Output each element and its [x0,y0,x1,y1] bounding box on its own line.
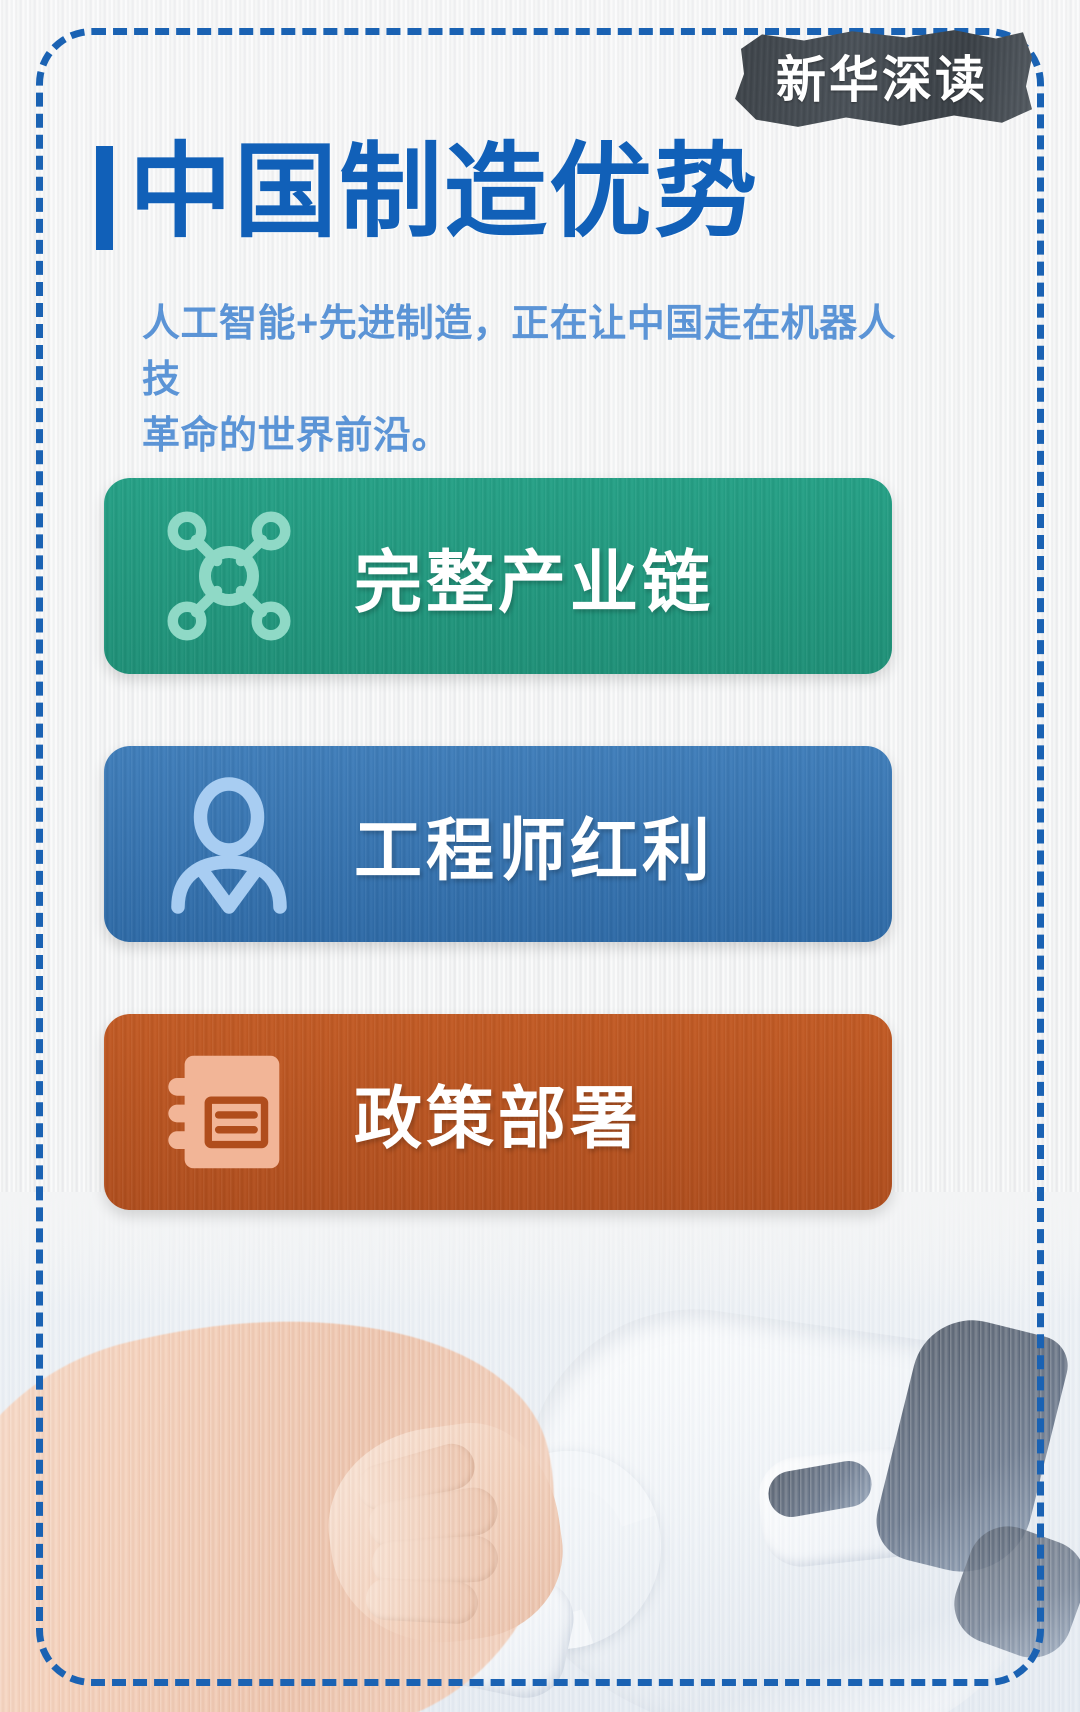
page-title-text: 中国制造优势 [129,136,759,247]
feature-card-supply-chain[interactable]: 完整产业链 [104,478,892,674]
human-finger [365,1577,479,1625]
subtitle-line-1: 人工智能+先进制造，正在让中国走在机器人技 [142,296,902,408]
infographic-poster: 新华深读 中国制造优势 人工智能+先进制造，正在让中国走在机器人技 革命的世界前… [0,0,1080,1712]
publisher-badge-label: 新华深读 [732,26,1032,130]
engineer-person-icon [104,769,354,919]
feature-card-engineer-dividend[interactable]: 工程师红利 [104,746,892,942]
feature-card-label: 工程师红利 [354,795,714,894]
page-title: 中国制造优势 [96,136,759,250]
publisher-badge: 新华深读 [732,26,1032,130]
feature-card-label: 完整产业链 [354,527,714,626]
feature-card-label: 政策部署 [354,1063,642,1162]
network-hub-icon [104,501,354,651]
vertical-bar-accent-icon [96,146,113,250]
feature-card-policy-deployment[interactable]: 政策部署 [104,1014,892,1210]
subtitle-line-2: 革命的世界前沿。 [142,408,902,464]
policy-notebook-icon [104,1038,354,1186]
subtitle: 人工智能+先进制造，正在让中国走在机器人技 革命的世界前沿。 [142,296,902,465]
feature-card-list: 完整产业链 工程师红利 [104,478,892,1210]
handshake-photo [0,1192,1080,1712]
photo-top-fade [0,1192,1080,1312]
